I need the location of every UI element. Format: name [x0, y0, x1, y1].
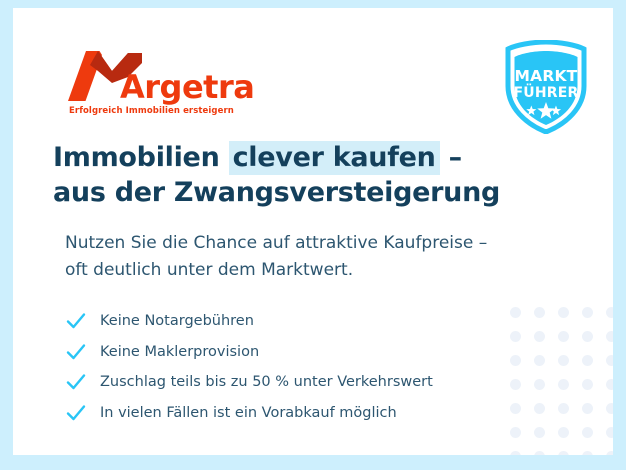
dot	[558, 427, 569, 438]
check-icon	[65, 402, 87, 424]
headline-highlight: clever kaufen	[229, 141, 440, 175]
subtitle-line2: oft deutlich unter dem Marktwert.	[65, 257, 535, 284]
list-item-label: Zuschlag teils bis zu 50 % unter Verkehr…	[100, 375, 433, 390]
page-title: Immobilien clever kaufen – aus der Zwang…	[53, 140, 523, 210]
dot	[558, 379, 569, 390]
promo-banner: Argetra Erfolgreich Immobilien ersteiger…	[0, 0, 626, 470]
list-item-label: Keine Notargebühren	[100, 314, 254, 329]
dot	[606, 307, 614, 318]
dot	[510, 427, 521, 438]
dot	[534, 403, 545, 414]
dot	[510, 331, 521, 342]
list-item: In vielen Fällen ist ein Vorabkauf mögli…	[65, 398, 505, 429]
dot-grid-pattern	[503, 300, 613, 455]
list-item: Zuschlag teils bis zu 50 % unter Verkehr…	[65, 367, 505, 398]
dot	[582, 451, 593, 456]
check-icon	[65, 371, 87, 393]
banner-card: Argetra Erfolgreich Immobilien ersteiger…	[13, 8, 613, 455]
dot	[558, 403, 569, 414]
logo-wordmark: Argetra	[120, 71, 254, 103]
dot	[606, 427, 614, 438]
dot	[606, 451, 614, 456]
headline-line2: aus der Zwangsversteigerung	[53, 175, 523, 210]
subtitle: Nutzen Sie die Chance auf attraktive Kau…	[65, 230, 535, 284]
market-leader-badge: MARKT FÜHRER	[502, 40, 590, 134]
dot	[606, 331, 614, 342]
dot	[510, 403, 521, 414]
headline-part1: Immobilien	[53, 142, 229, 173]
dot	[510, 307, 521, 318]
dot	[510, 379, 521, 390]
dot	[606, 355, 614, 366]
logo-tagline: Erfolgreich Immobilien ersteigern	[69, 106, 234, 116]
dot	[582, 331, 593, 342]
dot	[582, 403, 593, 414]
dot	[582, 307, 593, 318]
dot	[534, 451, 545, 456]
dot	[582, 379, 593, 390]
argetra-logo[interactable]: Argetra Erfolgreich Immobilien ersteiger…	[68, 49, 268, 121]
dot	[606, 379, 614, 390]
check-icon	[65, 341, 87, 363]
dot	[582, 355, 593, 366]
dot	[510, 451, 521, 456]
benefits-checklist: Keine Notargebühren Keine Maklerprovisio…	[65, 306, 505, 428]
dot	[534, 331, 545, 342]
dot	[558, 355, 569, 366]
dot	[534, 427, 545, 438]
dot	[558, 307, 569, 318]
dot	[534, 307, 545, 318]
dot	[534, 355, 545, 366]
dot	[606, 403, 614, 414]
check-icon	[65, 310, 87, 332]
list-item-label: Keine Maklerprovision	[100, 345, 259, 360]
badge-line1-text: MARKT	[515, 67, 578, 85]
dot	[558, 331, 569, 342]
dot	[582, 427, 593, 438]
badge-line2-text: FÜHRER	[514, 83, 579, 101]
dot	[558, 451, 569, 456]
headline-part2: –	[440, 142, 462, 173]
dot	[534, 379, 545, 390]
list-item-label: In vielen Fällen ist ein Vorabkauf mögli…	[100, 406, 397, 421]
subtitle-line1: Nutzen Sie die Chance auf attraktive Kau…	[65, 230, 535, 257]
list-item: Keine Maklerprovision	[65, 337, 505, 368]
list-item: Keine Notargebühren	[65, 306, 505, 337]
dot	[510, 355, 521, 366]
